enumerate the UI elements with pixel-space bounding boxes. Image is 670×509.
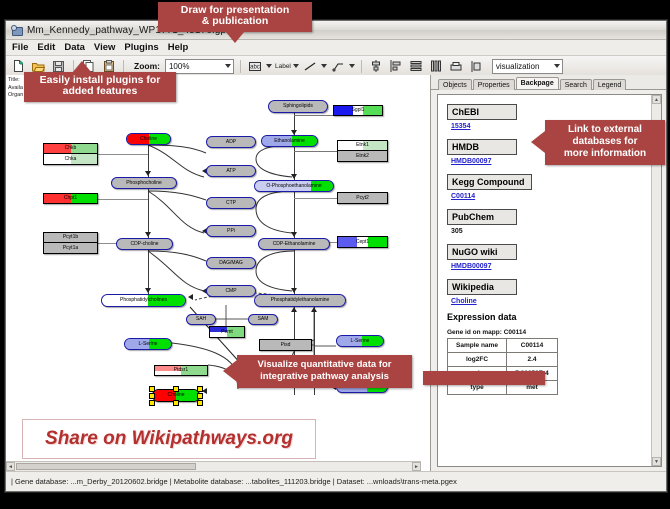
share-callout: Share on Wikipathways.org <box>22 419 316 459</box>
pubchem-header: PubChem <box>447 209 517 225</box>
gene-node[interactable]: Etnk1 <box>337 140 388 151</box>
metabolite-node[interactable]: PPi <box>206 225 256 237</box>
tab-properties[interactable]: Properties <box>473 79 515 90</box>
resize-handle[interactable] <box>173 386 179 392</box>
distribute-vertical-icon[interactable] <box>408 58 425 75</box>
visualize-callout-pointer-icon <box>223 360 237 382</box>
plugins-callout-line2: added features <box>24 86 176 97</box>
node-label: Phosphatidylcholines <box>120 298 167 303</box>
gene-node[interactable]: Pemt <box>209 326 245 338</box>
visualize-callout: Visualize quantitative data for integrat… <box>237 355 412 388</box>
node-label: PPi <box>227 229 235 234</box>
svg-text:abc: abc <box>251 64 261 70</box>
node-label: Pcyt1a <box>63 246 78 251</box>
wikipedia-header: Wikipedia <box>447 279 517 295</box>
link-callout: Link to external databases for more info… <box>545 120 665 165</box>
node-label: Chkb <box>65 146 77 151</box>
node-label: Pcyt1b <box>63 235 78 240</box>
info-availability-label: Availa <box>8 85 23 93</box>
menu-item-plugins[interactable]: Plugins <box>124 42 158 53</box>
link-callout-line2: databases for <box>545 136 665 148</box>
chevron-down-icon <box>225 64 231 68</box>
node-label: Ethanolamine <box>274 139 305 144</box>
metabolite-node[interactable]: O-Phosphoethanolamine <box>254 180 334 192</box>
gene-node[interactable]: Chka <box>43 154 98 165</box>
line-icon[interactable] <box>302 58 319 75</box>
gene-node[interactable]: Pcyt1b <box>43 232 98 243</box>
node-label: Sphingolipids <box>283 104 313 109</box>
resize-handle[interactable] <box>149 386 155 392</box>
menu-item-edit[interactable]: Edit <box>37 42 55 53</box>
metabolite-node[interactable]: Choline <box>126 133 171 145</box>
link-callout-line3: more information <box>545 148 665 160</box>
share-callout-text: Share on Wikipathways.org <box>45 428 293 450</box>
statusbar: | Gene database: ...m_Derby_20120602.bri… <box>6 471 666 491</box>
metabolite-node[interactable]: Phosphocholine <box>111 177 177 189</box>
metabolite-node[interactable]: Phosphatidylethanolamine <box>254 294 346 307</box>
table-row: Sample name C00114 <box>448 339 558 353</box>
expression-data-heading: Expression data <box>447 312 661 322</box>
hscroll-thumb[interactable] <box>16 463 196 470</box>
line-dropdown[interactable] <box>302 58 327 75</box>
tab-objects[interactable]: Objects <box>438 79 472 90</box>
status-text: | Gene database: ...m_Derby_20120602.bri… <box>11 477 457 486</box>
app-icon <box>11 25 22 36</box>
node-label: Ptdsr1 <box>174 368 188 373</box>
resize-handle[interactable] <box>197 386 203 392</box>
node-label: L-Serine <box>351 339 370 344</box>
align-center-icon[interactable] <box>368 58 385 75</box>
metabolite-node[interactable]: Ethanolamine <box>261 135 318 147</box>
node-label: Phosphocholine <box>126 181 162 186</box>
node-label: Etnk1 <box>356 143 369 148</box>
gene-id-label: Gene id on mapp: C00114 <box>447 329 661 336</box>
kegg-compound-header: Kegg Compound <box>447 174 532 190</box>
chevron-down-icon <box>266 64 272 68</box>
menu-item-file[interactable]: File <box>12 42 28 53</box>
expression-table: Sample name C00114 log2FC 2.4 pvalue 7.8… <box>447 338 558 395</box>
row-key: log2FC <box>448 353 507 367</box>
node-label: CDP-Ethanolamine <box>273 242 316 247</box>
metabolite-node[interactable]: CMP <box>206 285 256 297</box>
resize-handle[interactable] <box>197 400 203 406</box>
link-callout-pointer-icon <box>531 131 545 153</box>
edge-sgpl1-to-backbone <box>294 115 337 116</box>
plugins-callout: Easily install plugins for added feature… <box>24 72 176 102</box>
interaction-icon[interactable] <box>330 58 347 75</box>
metabolite-node[interactable]: ADP <box>206 136 256 148</box>
resize-handle[interactable] <box>173 400 179 406</box>
node-label: Pcyt2 <box>356 196 369 201</box>
node-label: Chka <box>65 157 77 162</box>
node-label: L-Serine <box>139 342 158 347</box>
screenshot-root: Mm_Kennedy_pathway_WP1771_45176.gpml Fil… <box>0 0 670 509</box>
node-label: Phosphatidylethanolamine <box>271 298 330 303</box>
edge-chk-to-backbone <box>98 154 148 155</box>
stack-icon[interactable] <box>468 58 485 75</box>
row-value: C00114 <box>507 339 558 353</box>
node-label: SAH <box>196 317 206 322</box>
tab-search[interactable]: Search <box>560 79 592 90</box>
node-label: CMP <box>225 289 236 294</box>
visualize-callout-line2: integrative pathway analysis <box>237 371 412 383</box>
label-dropdown-label: Label <box>275 63 291 70</box>
align-left-icon[interactable] <box>388 58 405 75</box>
gene-node[interactable]: Ptdsr1 <box>154 365 208 376</box>
draw-callout-line2: & publication <box>158 16 312 27</box>
node-label: Cept1 <box>356 240 369 245</box>
data-node-dropdown[interactable]: abc <box>247 58 272 75</box>
gene-node[interactable]: Pisd <box>259 339 312 351</box>
table-row: log2FC 2.4 <box>448 353 558 367</box>
chevron-down-icon <box>349 64 355 68</box>
metabolite-node[interactable]: SAM <box>248 314 278 325</box>
distribute-horizontal-icon[interactable] <box>428 58 445 75</box>
side-panel-tabs: Objects Properties Backpage Search Legen… <box>431 75 666 90</box>
scroll-left-icon[interactable]: ◄ <box>6 462 15 471</box>
link-callout-stem <box>423 371 545 385</box>
pathway-canvas-panel[interactable]: Title: Availa Organ <box>6 75 431 471</box>
resize-handle[interactable] <box>149 393 155 399</box>
toolbar-separator-4 <box>361 60 362 73</box>
canvas-hscrollbar[interactable]: ◄ ► <box>6 461 421 471</box>
scroll-up-icon[interactable]: ▲ <box>652 95 661 104</box>
draw-callout-pointer-icon <box>225 31 245 43</box>
scroll-down-icon[interactable]: ▼ <box>652 457 661 466</box>
gene-node[interactable]: Chkb <box>43 143 98 154</box>
menu-item-data[interactable]: Data <box>64 42 85 53</box>
visualization-combobox[interactable]: visualization <box>492 59 563 74</box>
info-organism-label: Organ <box>8 92 23 100</box>
nugo-wiki-link[interactable]: HMDB00097 <box>451 263 661 270</box>
arrow-icon <box>291 307 297 312</box>
edge-chpt1-to-backbone <box>98 199 148 200</box>
data-node-icon[interactable]: abc <box>247 58 264 75</box>
cofactor-arcs-left <box>146 133 216 303</box>
label-dropdown[interactable]: Label <box>275 63 299 70</box>
pathway-info-block: Title: Availa Organ <box>8 77 23 100</box>
menu-item-help[interactable]: Help <box>168 42 189 53</box>
metabolite-node[interactable]: L-Serine <box>124 338 172 350</box>
tab-backpage[interactable]: Backpage <box>516 77 559 89</box>
node-label: ADP <box>226 140 236 145</box>
gene-node[interactable]: Chpt1 <box>43 193 98 204</box>
node-label: Chpt1 <box>64 196 77 201</box>
node-label: Choline <box>168 393 185 398</box>
resize-handle[interactable] <box>149 400 155 406</box>
node-label: SAM <box>258 317 269 322</box>
metabolite-node[interactable]: Phosphatidylcholines <box>101 294 186 307</box>
zoom-value: 100% <box>169 62 189 71</box>
cofactor-arcs-right <box>256 133 300 303</box>
gene-node[interactable]: Cept1 <box>337 236 388 248</box>
interaction-dropdown[interactable] <box>330 58 355 75</box>
window-titlebar: Mm_Kennedy_pathway_WP1771_45176.gpml <box>6 21 666 40</box>
row-value: 2.4 <box>507 353 558 367</box>
menu-item-view[interactable]: View <box>94 42 115 53</box>
toolbar-separator-3 <box>240 60 241 73</box>
tab-legend[interactable]: Legend <box>593 79 626 90</box>
metabolite-node[interactable]: ATP <box>206 165 256 177</box>
edge-etnk-to-backbone <box>294 151 337 152</box>
node-label: ATP <box>226 169 235 174</box>
pubchem-value: 305 <box>451 228 661 235</box>
metabolite-node[interactable]: Sphingolipids <box>268 100 328 113</box>
chevron-down-icon <box>321 64 327 68</box>
row-key: Sample name <box>448 339 507 353</box>
link-callout-line1: Link to external <box>545 124 665 136</box>
visualize-callout-line1: Visualize quantitative data for <box>237 359 412 371</box>
kegg-compound-link[interactable]: C00114 <box>451 193 661 200</box>
metabolite-node[interactable]: CDP-Ethanolamine <box>258 238 330 250</box>
pathway-canvas[interactable]: Title: Availa Organ <box>6 75 430 471</box>
metabolite-node[interactable]: CDP-choline <box>116 238 173 250</box>
arrow-icon <box>188 294 193 300</box>
visualization-value: visualization <box>496 62 540 71</box>
resize-handle[interactable] <box>197 393 203 399</box>
chevron-down-icon <box>293 64 299 68</box>
gene-node[interactable]: Sgpl1 <box>333 105 383 116</box>
group-icon[interactable] <box>448 58 465 75</box>
node-label: Pisd <box>281 343 291 348</box>
node-label: O-Phosphoethanolamine <box>266 184 321 189</box>
scroll-right-icon[interactable]: ► <box>412 462 421 471</box>
node-label: Sgpl1 <box>352 108 365 113</box>
info-title-label: Title: <box>8 77 23 85</box>
toolbar-separator-2 <box>123 60 124 73</box>
wikipedia-link[interactable]: Choline <box>451 298 661 305</box>
gene-node[interactable]: Pcyt1a <box>43 243 98 254</box>
plugins-callout-pointer-icon <box>72 61 92 73</box>
metabolite-node[interactable]: DAG/MAG <box>206 257 256 269</box>
node-label: Pemt <box>221 330 233 335</box>
node-label: CTP <box>226 201 236 206</box>
metabolite-node[interactable]: L-Serine <box>336 335 384 347</box>
gene-node[interactable]: Etnk2 <box>337 151 388 162</box>
hmdb-header: HMDB <box>447 139 517 155</box>
zoom-label: Zoom: <box>134 61 160 71</box>
node-label: DAG/MAG <box>219 261 243 266</box>
chebi-header: ChEBI <box>447 104 517 120</box>
arrow-icon <box>311 307 317 312</box>
node-label: CDP-choline <box>130 242 158 247</box>
chevron-down-icon <box>554 64 560 68</box>
node-label: Choline <box>140 137 157 142</box>
node-label: Etnk2 <box>356 154 369 159</box>
nugo-wiki-header: NuGO wiki <box>447 244 517 260</box>
draw-callout: Draw for presentation & publication <box>158 2 312 32</box>
metabolite-node[interactable]: CTP <box>206 197 256 209</box>
menubar: File Edit Data View Plugins Help <box>6 40 666 56</box>
metabolite-node[interactable]: SAH <box>186 314 216 325</box>
gene-node[interactable]: Pcyt2 <box>337 192 388 204</box>
edge-pcyt2-to-backbone <box>294 198 337 199</box>
